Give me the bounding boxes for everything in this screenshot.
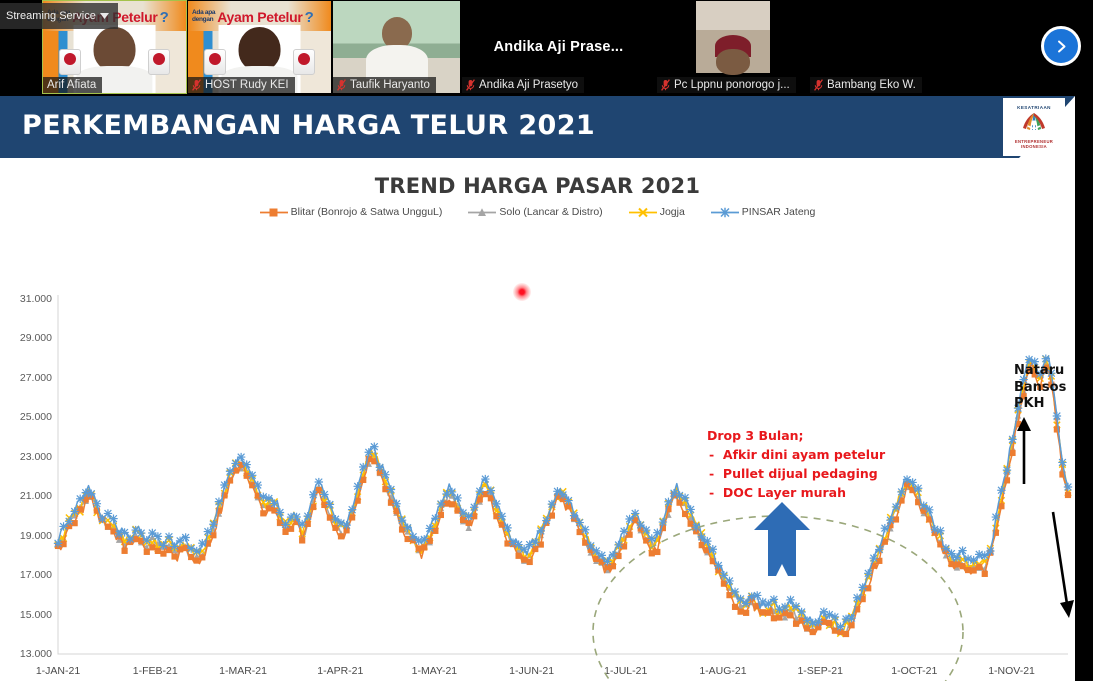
participant-tile-5[interactable]: Bambang Eko W. [809, 0, 961, 94]
slide-right-gutter [1075, 96, 1093, 681]
poster-seal-right [148, 49, 170, 75]
chevron-down-icon [100, 13, 109, 19]
annotation-item-2: - DOC Layer murah [707, 483, 885, 502]
participant-label-0: Arif Afiata [47, 79, 96, 91]
muted-mic-icon [814, 79, 823, 91]
annotation-nataru: Nataru Bansos PKH [1014, 363, 1066, 413]
poster-seal-right [293, 49, 315, 75]
screen: Ada apadenganAyam Petelur? Arif Afiata A… [0, 0, 1093, 681]
chart-container: TREND HARGA PASAR 2021 Blitar (Bonrojo &… [0, 162, 1075, 681]
blue-up-arrow-icon [752, 500, 812, 578]
participant-label-1: HOST Rudy KEI [205, 79, 289, 91]
participant-name-2: Taufik Haryanto [333, 77, 436, 93]
annotation-item-0: - Afkir dini ayam petelur [707, 445, 885, 464]
muted-mic-icon [192, 79, 201, 91]
laser-pointer-dot [513, 283, 531, 301]
annotation-item-text-2: DOC Layer murah [723, 485, 846, 500]
participant-label-2: Taufik Haryanto [350, 79, 430, 91]
black-down-arrow-icon [1043, 508, 1075, 620]
logo-bottom-text: ENTREPRENEURINDONESIA [1015, 140, 1053, 150]
annotation-item-1: - Pullet dijual pedaging [707, 464, 885, 483]
page-title: PERKEMBANGAN HARGA TELUR 2021 [22, 110, 595, 141]
highlight-ellipse [0, 162, 1075, 681]
muted-mic-icon [661, 79, 670, 91]
shared-slide: PERKEMBANGAN HARGA TELUR 2021 KESATRIAAN… [0, 96, 1075, 681]
participant-label-5: Bambang Eko W. [827, 79, 916, 91]
annotation-nataru-line-0: Nataru [1014, 363, 1066, 380]
participant-name-1: HOST Rudy KEI [188, 77, 295, 93]
logo-mark-icon [1017, 110, 1051, 140]
participant-face-4 [716, 49, 750, 75]
next-participants-button[interactable] [1041, 26, 1081, 66]
participant-name-0: Arif Afiata [43, 77, 102, 93]
kei-logo: KESATRIAAN ENTREPRENEURINDONESIA [1003, 98, 1065, 156]
poster-seal-left [59, 49, 81, 75]
muted-mic-icon [337, 79, 346, 91]
black-up-arrow-icon [1014, 416, 1034, 486]
streaming-service-label: Streaming Service [6, 10, 96, 22]
participant-tile-3[interactable]: Andika Aji Prase... Andika Aji Prasetyo [461, 0, 656, 94]
participant-name-5: Bambang Eko W. [810, 77, 922, 93]
annotation-heading: Drop 3 Bulan; [707, 426, 885, 445]
annotation-nataru-line-1: Bansos [1014, 380, 1066, 397]
annotation-item-text-0: Afkir dini ayam petelur [723, 447, 885, 462]
streaming-service-badge[interactable]: Streaming Service [0, 3, 118, 29]
participant-label-4: Pc Lppnu ponorogo j... [674, 79, 790, 91]
participant-tile-2[interactable]: Taufik Haryanto [332, 0, 461, 94]
participant-center-label-3: Andika Aji Prase... [462, 39, 655, 55]
participant-name-4: Pc Lppnu ponorogo j... [657, 77, 796, 93]
participant-label-3: Andika Aji Prasetyo [479, 79, 578, 91]
annotation-drop-3-bulan: Drop 3 Bulan; - Afkir dini ayam petelur … [707, 426, 885, 502]
participant-tile-1[interactable]: Ada apadenganAyam Petelur? HOST Rudy KEI [187, 0, 332, 94]
participant-name-3: Andika Aji Prasetyo [462, 77, 584, 93]
muted-mic-icon [466, 79, 475, 91]
poster-seal-left [204, 49, 226, 75]
chevron-right-icon [1054, 39, 1069, 54]
participant-tile-4[interactable]: Pc Lppnu ponorogo j... [656, 0, 809, 94]
annotation-item-text-1: Pullet dijual pedaging [723, 466, 878, 481]
participant-body-2 [366, 45, 428, 79]
participant-filmstrip: Ada apadenganAyam Petelur? Arif Afiata A… [0, 0, 1093, 96]
annotation-nataru-line-2: PKH [1014, 396, 1066, 413]
